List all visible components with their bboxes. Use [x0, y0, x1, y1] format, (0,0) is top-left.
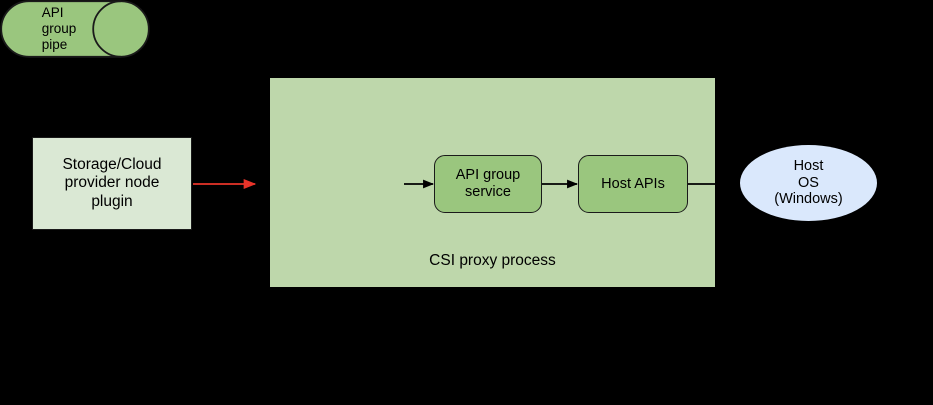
api-group-pipe-shape[interactable]: API group pipe [0, 0, 150, 58]
api-group-service-box[interactable]: API group service [434, 155, 542, 213]
host-apis-box[interactable]: Host APIs [578, 155, 688, 213]
storage-cloud-provider-node-plugin-box[interactable]: Storage/Cloud provider node plugin [32, 137, 192, 230]
storage-cloud-provider-node-plugin-label: Storage/Cloud provider node plugin [62, 156, 161, 210]
host-apis-label: Host APIs [601, 176, 665, 193]
api-group-service-label: API group service [456, 167, 521, 201]
csi-proxy-process-label: CSI proxy process [270, 252, 715, 270]
host-os-label: Host OS (Windows) [774, 158, 842, 209]
host-os-ellipse[interactable]: Host OS (Windows) [740, 145, 877, 221]
api-group-pipe-label: API group pipe [0, 0, 118, 58]
diagram-canvas: Storage/Cloud provider node plugin API g… [0, 0, 933, 405]
